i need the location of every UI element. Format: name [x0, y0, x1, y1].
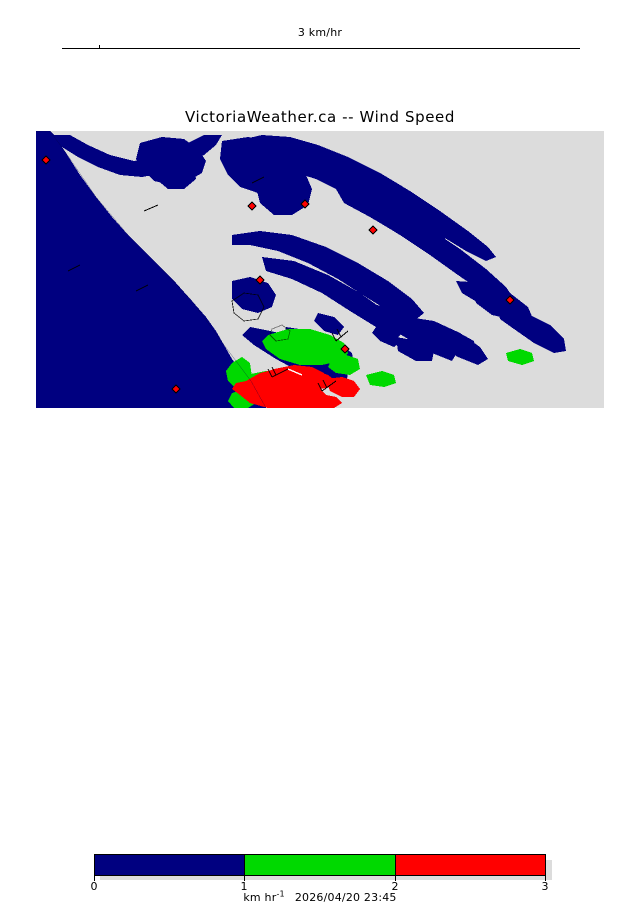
weather-map-page: 3 km/hr VictoriaWeather.ca -- Wind Speed [0, 0, 640, 480]
colorbar[interactable] [94, 854, 546, 876]
wind-barb-tick-icon [99, 45, 100, 48]
colorbar-legend: 0 1 2 3 km hr-12026/04/20 23:45 [0, 425, 640, 480]
observation-timestamp: 2026/04/20 23:45 [295, 891, 397, 904]
colorbar-segment-2-3 [395, 855, 545, 875]
colorbar-caption: km hr-12026/04/20 23:45 [0, 889, 640, 904]
wind-barb-scale-legend: 3 km/hr [0, 26, 640, 60]
colorbar-divider [395, 854, 396, 876]
colorbar-units-exponent: -1 [276, 889, 284, 898]
colorbar-units-text: km hr [243, 891, 276, 904]
weather-map-canvas[interactable] [36, 131, 604, 408]
wind-barb-scale-label: 3 km/hr [0, 26, 640, 39]
colorbar-units: km hr-1 [243, 891, 284, 904]
page-title: VictoriaWeather.ca -- Wind Speed [0, 108, 640, 126]
wind-barb-shaft-icon [62, 48, 580, 49]
colorbar-segment-0-1 [95, 855, 245, 875]
colorbar-divider [244, 854, 245, 876]
colorbar-segment-1-2 [245, 855, 395, 875]
map-graphic [36, 131, 604, 408]
